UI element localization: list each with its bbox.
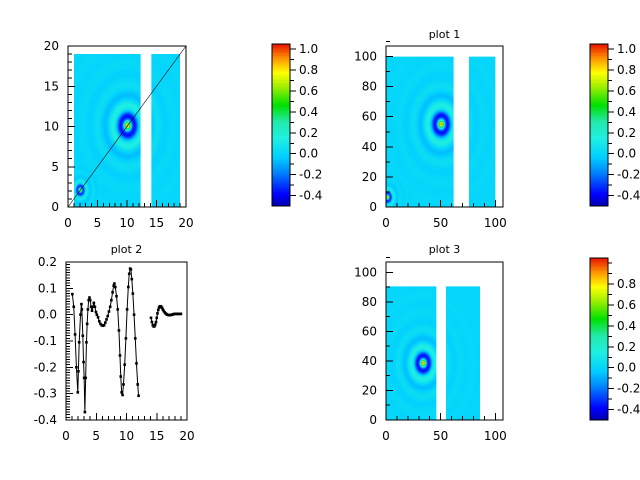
- axis-ticks: 050100020406080100: [354, 258, 507, 443]
- plot-bottom-right: 0501000204060801000.80.60.40.20.0-0.2-0.…: [0, 0, 640, 480]
- y-tick-label: 20: [362, 383, 377, 397]
- colorbar-tick-label: 0.2: [617, 340, 636, 354]
- y-tick-label: 0: [369, 413, 377, 427]
- colorbar-tick-label: 0.6: [617, 298, 636, 312]
- colorbar-tick-label: 0.0: [617, 361, 636, 375]
- plot-bottom-right-title: plot 3: [386, 243, 503, 256]
- y-tick-label: 60: [362, 324, 377, 338]
- colorbar-tick-label: -0.2: [617, 382, 640, 396]
- colorbar: 0.80.60.40.20.0-0.2-0.4: [590, 258, 640, 421]
- plot-bottom-right-svg: 0501000204060801000.80.60.40.20.0-0.2-0.…: [0, 0, 640, 480]
- y-tick-label: 100: [354, 265, 377, 279]
- colorbar-tick-label: -0.4: [617, 403, 640, 417]
- colorbar-tick-label: 0.8: [617, 277, 636, 291]
- x-tick-label: 100: [484, 429, 507, 443]
- y-tick-label: 80: [362, 295, 377, 309]
- heatmap-image: [386, 262, 503, 420]
- axes-frame: [386, 262, 503, 420]
- colorbar-tick-label: 0.4: [617, 319, 636, 333]
- x-tick-label: 0: [382, 429, 390, 443]
- y-tick-label: 40: [362, 354, 377, 368]
- x-tick-label: 50: [433, 429, 448, 443]
- figure-canvas: 05101520051015201.00.80.60.40.20.0-0.2-0…: [0, 0, 640, 480]
